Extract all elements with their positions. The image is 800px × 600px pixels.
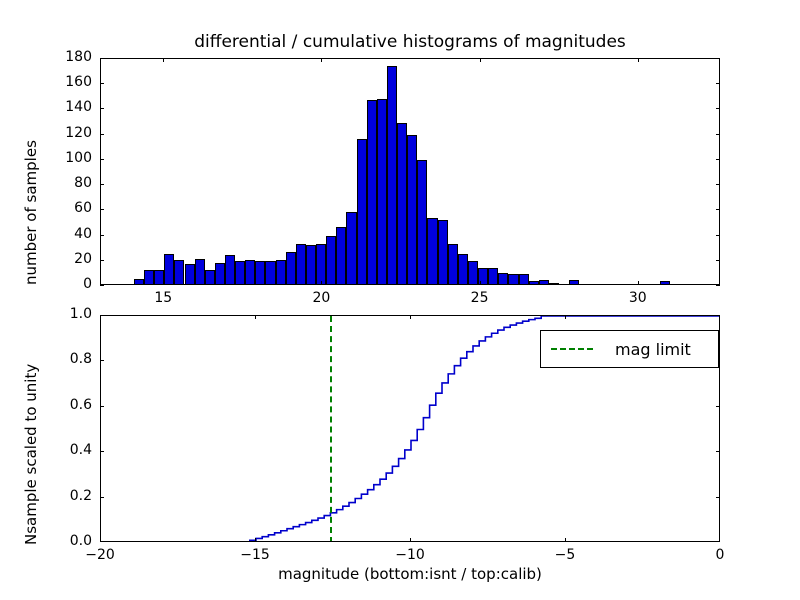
tick-label-y: 20 bbox=[30, 251, 92, 267]
tick-mark-y-right bbox=[716, 58, 720, 59]
tick-mark-y bbox=[100, 159, 104, 160]
histogram-bar bbox=[498, 273, 508, 284]
figure-title: differential / cumulative histograms of … bbox=[100, 32, 720, 52]
histogram-bar bbox=[438, 220, 448, 284]
histogram-bar bbox=[276, 260, 286, 284]
tick-mark-x bbox=[255, 538, 256, 542]
tick-mark-y bbox=[100, 497, 104, 498]
histogram-bar bbox=[195, 259, 205, 284]
histogram-bar bbox=[367, 100, 377, 284]
tick-mark-y bbox=[100, 406, 104, 407]
tick-label-y: 120 bbox=[30, 125, 92, 141]
tick-mark-y-right bbox=[716, 235, 720, 236]
histogram-bar bbox=[235, 261, 245, 284]
tick-mark-x bbox=[638, 281, 639, 285]
tick-mark-y-right bbox=[716, 108, 720, 109]
tick-mark-y-right bbox=[716, 406, 720, 407]
tick-mark-x-top bbox=[321, 58, 322, 62]
histogram-bar bbox=[164, 254, 174, 284]
histogram-bar bbox=[306, 245, 316, 284]
histogram-bar bbox=[660, 281, 670, 284]
histogram-bar bbox=[265, 261, 275, 284]
tick-mark-x bbox=[321, 281, 322, 285]
tick-mark-y bbox=[100, 134, 104, 135]
differential-histogram-plot bbox=[101, 59, 719, 284]
tick-label-x: 25 bbox=[450, 290, 510, 306]
histogram-bar bbox=[215, 263, 225, 284]
tick-label-y: 1.0 bbox=[30, 306, 92, 322]
histogram-bar bbox=[144, 270, 154, 284]
tick-mark-x-top bbox=[565, 315, 566, 319]
tick-mark-x bbox=[480, 281, 481, 285]
histogram-bar bbox=[357, 139, 367, 284]
histogram-bar bbox=[377, 99, 387, 284]
tick-mark-y-right bbox=[716, 541, 720, 542]
histogram-bar bbox=[549, 283, 559, 285]
tick-label-y: 0 bbox=[30, 276, 92, 292]
histogram-bar bbox=[427, 218, 437, 284]
histogram-bar bbox=[174, 260, 184, 284]
legend[interactable]: mag limit bbox=[540, 330, 719, 368]
tick-label-x: −10 bbox=[380, 547, 440, 563]
histogram-bar bbox=[225, 255, 235, 284]
tick-mark-y bbox=[100, 315, 104, 316]
tick-label-y: 140 bbox=[30, 99, 92, 115]
tick-label-y: 0.4 bbox=[30, 442, 92, 458]
tick-label-x: 30 bbox=[608, 290, 668, 306]
tick-label-y: 40 bbox=[30, 226, 92, 242]
tick-mark-y-right bbox=[716, 285, 720, 286]
histogram-bar bbox=[316, 244, 326, 284]
top-axes bbox=[100, 58, 720, 285]
tick-mark-y-right bbox=[716, 451, 720, 452]
tick-mark-y bbox=[100, 184, 104, 185]
histogram-bar bbox=[458, 254, 468, 284]
tick-mark-y-right bbox=[716, 209, 720, 210]
histogram-bar bbox=[539, 280, 549, 284]
histogram-bar bbox=[417, 160, 427, 284]
tick-mark-y-right bbox=[716, 134, 720, 135]
mag-limit-vline bbox=[330, 316, 332, 541]
tick-label-x: −20 bbox=[70, 547, 130, 563]
histogram-bar bbox=[519, 274, 529, 284]
tick-label-y: 60 bbox=[30, 200, 92, 216]
tick-mark-y bbox=[100, 108, 104, 109]
tick-mark-y-right bbox=[716, 159, 720, 160]
dashed-line-icon bbox=[551, 348, 593, 350]
tick-label-y: 160 bbox=[30, 74, 92, 90]
histogram-bar bbox=[508, 274, 518, 284]
tick-mark-y-right bbox=[716, 184, 720, 185]
tick-label-y: 80 bbox=[30, 175, 92, 191]
histogram-bar bbox=[326, 236, 336, 284]
tick-mark-y bbox=[100, 83, 104, 84]
histogram-bar bbox=[134, 279, 144, 284]
histogram-bar bbox=[569, 280, 579, 284]
tick-mark-y bbox=[100, 451, 104, 452]
tick-mark-y-right bbox=[716, 260, 720, 261]
tick-mark-y-right bbox=[716, 83, 720, 84]
tick-mark-x bbox=[565, 538, 566, 542]
histogram-bar bbox=[448, 244, 458, 284]
histogram-bar bbox=[296, 244, 306, 284]
tick-mark-y bbox=[100, 285, 104, 286]
tick-mark-x bbox=[410, 538, 411, 542]
matplotlib-figure: differential / cumulative histograms of … bbox=[0, 0, 800, 600]
tick-mark-y-right bbox=[716, 315, 720, 316]
tick-mark-x-top bbox=[638, 58, 639, 62]
tick-label-y: 0.2 bbox=[30, 488, 92, 504]
bottom-axes-xlabel: magnitude (bottom:isnt / top:calib) bbox=[100, 565, 720, 583]
histogram-bar bbox=[488, 268, 498, 284]
histogram-bar bbox=[336, 227, 346, 284]
tick-mark-x-top bbox=[410, 315, 411, 319]
histogram-bar bbox=[346, 212, 356, 284]
tick-mark-y bbox=[100, 260, 104, 261]
tick-label-y: 0.6 bbox=[30, 397, 92, 413]
histogram-bar bbox=[407, 135, 417, 284]
histogram-bar bbox=[245, 260, 255, 284]
tick-label-y: 100 bbox=[30, 150, 92, 166]
tick-label-y: 0.0 bbox=[30, 533, 92, 549]
tick-label-x: 15 bbox=[133, 290, 193, 306]
tick-mark-y bbox=[100, 541, 104, 542]
histogram-bar bbox=[255, 261, 265, 284]
tick-mark-x-top bbox=[480, 58, 481, 62]
histogram-bar bbox=[286, 252, 296, 284]
tick-label-y: 0.8 bbox=[30, 351, 92, 367]
tick-mark-x-top bbox=[255, 315, 256, 319]
histogram-bar bbox=[468, 261, 478, 284]
histogram-bar bbox=[529, 281, 539, 284]
tick-mark-y bbox=[100, 209, 104, 210]
tick-mark-y bbox=[100, 360, 104, 361]
histogram-bar bbox=[185, 264, 195, 284]
tick-label-x: −15 bbox=[225, 547, 285, 563]
tick-label-x: 20 bbox=[291, 290, 351, 306]
tick-label-x: −5 bbox=[535, 547, 595, 563]
tick-mark-y bbox=[100, 235, 104, 236]
tick-label-x: 0 bbox=[690, 547, 750, 563]
histogram-bar bbox=[387, 66, 397, 284]
tick-label-y: 180 bbox=[30, 49, 92, 65]
legend-label-mag-limit: mag limit bbox=[615, 340, 691, 359]
tick-mark-y bbox=[100, 58, 104, 59]
tick-mark-y-right bbox=[716, 497, 720, 498]
histogram-bar bbox=[205, 270, 215, 284]
tick-mark-x-top bbox=[163, 58, 164, 62]
histogram-bar bbox=[397, 123, 407, 284]
tick-mark-x bbox=[163, 281, 164, 285]
